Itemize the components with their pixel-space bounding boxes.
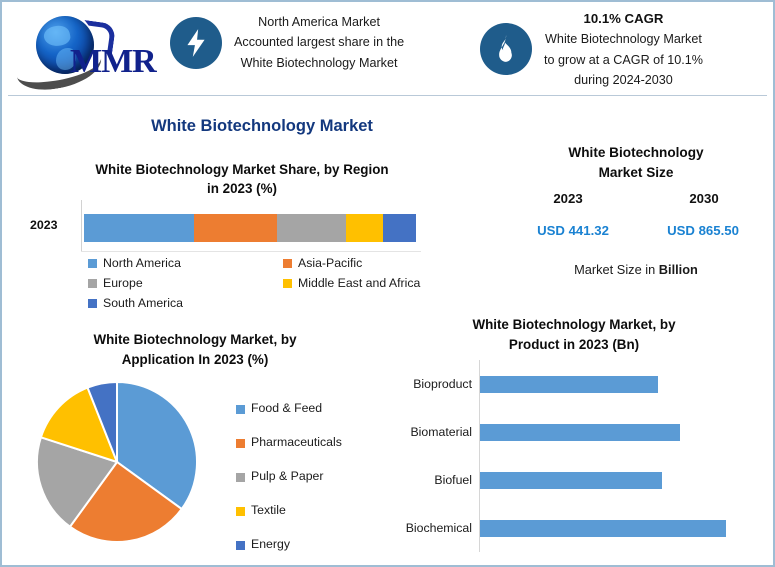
header-line-2: Accounted largest share in the [234, 35, 404, 49]
legend-swatch-icon [236, 405, 245, 414]
legend-swatch-icon [283, 259, 292, 268]
product-category-label: Bioproduct [413, 377, 472, 391]
region-segment-3 [346, 214, 383, 242]
market-size-unit: Market Size in Billion [502, 262, 770, 277]
application-legend-item: Textile [236, 494, 396, 528]
legend-swatch-icon [236, 541, 245, 550]
product-category-label: Biofuel [434, 473, 472, 487]
market-size-value-base: USD 441.32 [518, 223, 628, 238]
header-line-3: White Biotechnology Market [241, 56, 398, 70]
region-title-line-1: White Biotechnology Market Share, by Reg… [95, 162, 388, 177]
cagr-line-1: White Biotechnology Market [545, 32, 702, 46]
cagr-heading: 10.1% CAGR [544, 8, 703, 29]
application-legend-label: Energy [251, 535, 290, 554]
product-bar-chart: BioproductBiomaterialBiofuelBiochemical [480, 360, 760, 552]
cagr-line-2: to grow at a CAGR of 10.1% [544, 53, 703, 67]
market-size-unit-prefix: Market Size in [574, 262, 659, 277]
market-size-year-base: 2023 [518, 191, 618, 206]
legend-swatch-icon [283, 279, 292, 288]
application-legend-label: Pulp & Paper [251, 467, 323, 486]
application-legend-label: Food & Feed [251, 399, 322, 418]
header-highlight-cagr: 10.1% CAGR White Biotechnology Market to… [480, 8, 703, 91]
header-highlight-text: North America Market Accounted largest s… [234, 12, 404, 73]
flame-icon [480, 23, 532, 75]
header-divider [8, 95, 767, 96]
lightning-bolt-icon [170, 17, 222, 69]
region-stacked-bar [84, 214, 416, 242]
application-legend-item: Pharmaceuticals [236, 426, 396, 460]
product-bar-row: Bioproduct [480, 360, 760, 408]
page-title: White Biotechnology Market [2, 117, 522, 136]
region-legend-item: Middle East and Africa [283, 274, 478, 293]
market-size-title: White Biotechnology Market Size [502, 143, 770, 182]
market-size-year-forecast: 2030 [654, 191, 754, 206]
header-line-1: North America Market [258, 15, 380, 29]
header-cagr-text: 10.1% CAGR White Biotechnology Market to… [544, 8, 703, 91]
region-segment-0 [84, 214, 194, 242]
header-highlight-north-america: North America Market Accounted largest s… [170, 12, 404, 73]
product-title-line-2: Product in 2023 (Bn) [509, 337, 639, 352]
region-segment-2 [277, 214, 347, 242]
logo-text: MMR [70, 43, 156, 81]
market-size-value-forecast: USD 865.50 [648, 223, 758, 238]
legend-swatch-icon [88, 259, 97, 268]
product-title-line-1: White Biotechnology Market, by [472, 317, 675, 332]
product-bar-row: Biofuel [480, 456, 760, 504]
application-chart-title: White Biotechnology Market, by Applicati… [20, 330, 370, 370]
application-chart-legend: Food & FeedPharmaceuticalsPulp & PaperTe… [236, 392, 396, 562]
product-chart-title: White Biotechnology Market, by Product i… [394, 315, 754, 355]
region-legend-label: Asia-Pacific [298, 254, 362, 273]
application-legend-item: Food & Feed [236, 392, 396, 426]
region-legend-label: Middle East and Africa [298, 274, 420, 293]
cagr-line-3: during 2024-2030 [574, 73, 673, 87]
application-legend-label: Pharmaceuticals [251, 433, 342, 452]
region-legend-label: South America [103, 294, 183, 313]
market-size-title-line-2: Market Size [599, 165, 674, 180]
region-legend-item: Asia-Pacific [283, 254, 478, 273]
infographic-page: MMR North America Market Accounted large… [0, 0, 775, 567]
application-legend-item: Energy [236, 528, 396, 562]
region-legend-label: North America [103, 254, 181, 273]
legend-swatch-icon [88, 279, 97, 288]
application-pie-chart [36, 381, 198, 543]
legend-swatch-icon [236, 439, 245, 448]
product-category-label: Biomaterial [410, 425, 472, 439]
legend-swatch-icon [88, 299, 97, 308]
region-segment-4 [383, 214, 416, 242]
region-legend-item: South America [88, 294, 283, 313]
product-bar [480, 472, 662, 489]
application-title-line-1: White Biotechnology Market, by [93, 332, 296, 347]
region-chart-axis [81, 200, 82, 252]
product-bar-row: Biomaterial [480, 408, 760, 456]
product-category-label: Biochemical [406, 521, 472, 535]
region-chart-baseline [81, 251, 421, 252]
region-category-label: 2023 [30, 218, 58, 232]
region-legend-label: Europe [103, 274, 143, 293]
market-size-title-line-1: White Biotechnology [568, 145, 703, 160]
application-title-line-2: Application In 2023 (%) [122, 352, 269, 367]
region-title-line-2: in 2023 (%) [207, 181, 277, 196]
product-bar [480, 376, 658, 393]
region-legend-item: Europe [88, 274, 283, 293]
application-legend-item: Pulp & Paper [236, 460, 396, 494]
legend-swatch-icon [236, 507, 245, 516]
product-bar [480, 520, 726, 537]
product-bar [480, 424, 680, 441]
region-segment-1 [194, 214, 277, 242]
region-chart-legend: North AmericaAsia-PacificEuropeMiddle Ea… [88, 254, 468, 313]
region-legend-item: North America [88, 254, 283, 273]
application-legend-label: Textile [251, 501, 286, 520]
region-chart-title: White Biotechnology Market Share, by Reg… [22, 160, 462, 199]
market-size-unit-bold: Billion [659, 262, 698, 277]
product-bar-row: Biochemical [480, 504, 760, 552]
brand-logo: MMR [14, 10, 164, 88]
legend-swatch-icon [236, 473, 245, 482]
